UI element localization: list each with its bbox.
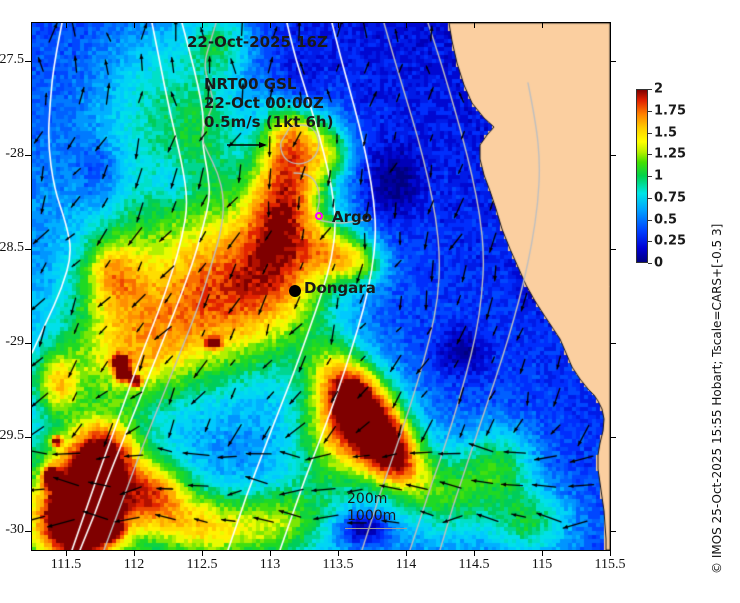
x-tick-mark xyxy=(270,550,271,556)
y-axis-label: -29.5 xyxy=(0,428,24,444)
x-tick-mark-top xyxy=(270,22,271,28)
x-tick-mark xyxy=(542,550,543,556)
model-time-label: 22-Oct 00:00Z xyxy=(204,94,333,113)
colorbar xyxy=(636,89,648,263)
y-tick-mark xyxy=(25,531,31,532)
colorbar-tick-label: 2 xyxy=(654,82,663,97)
model-name-label: NRT00 GSL xyxy=(204,75,333,94)
contour-1000m-label: 1000m xyxy=(347,508,396,525)
x-tick-mark-top xyxy=(202,22,203,28)
x-axis-label: 112.5 xyxy=(172,557,232,573)
x-axis-label: 115 xyxy=(512,557,572,573)
y-axis-label: -28.5 xyxy=(0,240,24,256)
x-axis-label: 114 xyxy=(376,557,436,573)
argo-marker-icon xyxy=(315,212,323,220)
y-tick-mark xyxy=(25,343,31,344)
colorbar-tick-label: 1 xyxy=(654,169,663,184)
y-axis-label: -27.5 xyxy=(0,52,24,68)
x-tick-mark xyxy=(202,550,203,556)
y-tick-mark xyxy=(25,155,31,156)
colorbar-tick xyxy=(648,89,652,90)
x-axis-label: 113 xyxy=(240,557,300,573)
colorbar-tick xyxy=(648,241,652,242)
y-tick-mark xyxy=(25,61,31,62)
x-axis-label: 111.5 xyxy=(36,557,96,573)
colorbar-tick-label: 0.5 xyxy=(654,212,677,227)
x-tick-mark xyxy=(134,550,135,556)
y-tick-mark xyxy=(25,249,31,250)
x-axis-label: 112 xyxy=(104,557,164,573)
colorbar-tick-label: 0.25 xyxy=(654,234,686,249)
colorbar-tick xyxy=(648,133,652,134)
colorbar-tick xyxy=(648,220,652,221)
colorbar-tick xyxy=(648,198,652,199)
colorbar-tick-label: 1.25 xyxy=(654,147,686,162)
y-axis-label: -30 xyxy=(0,522,24,538)
x-tick-mark xyxy=(474,550,475,556)
dongara-marker-icon xyxy=(289,285,301,297)
colorbar-tick xyxy=(648,111,652,112)
colorbar-tick-label: 1.5 xyxy=(654,125,677,140)
vector-scale-label: 0.5m/s (1kt 6h) xyxy=(204,113,333,132)
y-axis-label: -28 xyxy=(0,146,24,162)
colorbar-tick-label: 0 xyxy=(654,256,663,271)
contour-200m-label: 200m xyxy=(347,491,396,508)
x-tick-mark xyxy=(338,550,339,556)
x-axis-label: 115.5 xyxy=(580,557,640,573)
x-tick-mark-top xyxy=(338,22,339,28)
x-tick-mark-top xyxy=(474,22,475,28)
x-axis-label: 114.5 xyxy=(444,557,504,573)
colorbar-tick xyxy=(648,263,652,264)
vector-scale-arrow-icon xyxy=(227,139,267,151)
x-tick-mark-top xyxy=(406,22,407,28)
y-tick-mark-right xyxy=(610,61,616,62)
figure-root: 22-Oct-2025 16Z NRT00 GSL 22-Oct 00:00Z … xyxy=(0,0,740,592)
colorbar-gradient xyxy=(637,90,647,262)
x-tick-mark xyxy=(406,550,407,556)
colorbar-tick-label: 0.75 xyxy=(654,190,686,205)
colorbar-tick-label: 1.75 xyxy=(654,103,686,118)
y-tick-mark xyxy=(25,437,31,438)
dongara-label: Dongara xyxy=(304,279,376,297)
x-tick-mark-top xyxy=(542,22,543,28)
x-tick-mark-top xyxy=(134,22,135,28)
datestamp-label: 22-Oct-2025 16Z xyxy=(187,33,328,51)
colorbar-tick xyxy=(648,176,652,177)
x-tick-mark-top xyxy=(66,22,67,28)
y-axis-label: -29 xyxy=(0,334,24,350)
x-tick-mark xyxy=(610,550,611,556)
argo-label: Argo xyxy=(332,208,372,226)
y-tick-mark-right xyxy=(610,249,616,250)
x-axis-label: 113.5 xyxy=(308,557,368,573)
y-tick-mark-right xyxy=(610,437,616,438)
y-tick-mark-right xyxy=(610,343,616,344)
x-tick-mark xyxy=(66,550,67,556)
map-plot-area[interactable]: 22-Oct-2025 16Z NRT00 GSL 22-Oct 00:00Z … xyxy=(31,22,611,551)
model-info-block: NRT00 GSL 22-Oct 00:00Z 0.5m/s (1kt 6h) xyxy=(204,75,333,132)
y-tick-mark-right xyxy=(610,155,616,156)
bathymetry-legend: 200m 1000m xyxy=(347,491,396,525)
x-tick-mark-top xyxy=(610,22,611,28)
y-tick-mark-right xyxy=(610,531,616,532)
credit-label: © IMOS 25-Oct-2025 15:55 Hobart; Tscale=… xyxy=(710,224,724,574)
colorbar-tick xyxy=(648,154,652,155)
bathymetry-legend-line xyxy=(345,528,407,529)
